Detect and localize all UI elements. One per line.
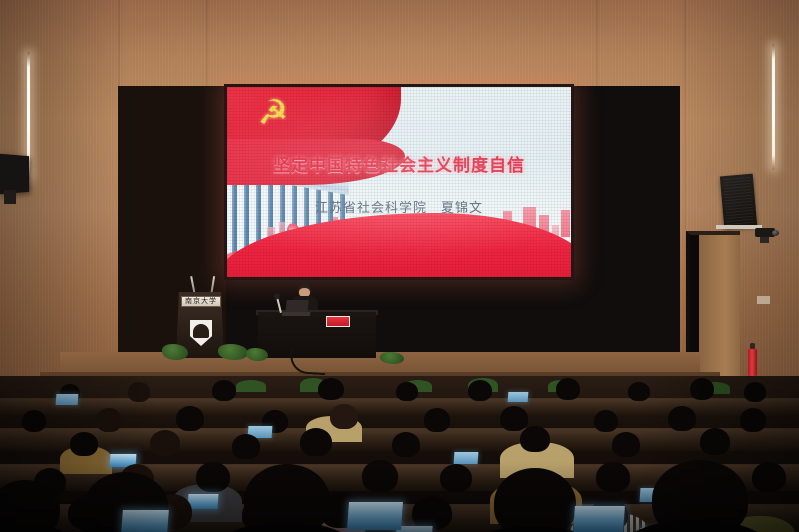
audience-head [744,382,766,402]
presenter-laptop [285,300,308,313]
planter-greenery [236,380,266,392]
audience-head [412,496,452,530]
audience-head [596,462,630,492]
camera-lens-icon [772,230,779,236]
audience-laptop [187,494,218,509]
audience-laptop [56,394,79,405]
audience-head [740,408,766,432]
hammer-sickle-icon: ☭ [253,95,293,131]
audience-head [628,382,650,401]
audience-head [668,406,696,431]
audience-head [300,428,332,456]
stage-backdrop-right [572,86,680,358]
audience-head [392,432,420,457]
audience-head [330,404,358,429]
audience-head [362,460,398,492]
stage-plant [380,352,404,364]
presenter-nameplate [326,316,350,327]
audience-head [196,462,230,492]
audience-head [396,382,418,401]
audience-head [700,428,730,455]
audience-head [468,380,492,401]
audience-head [128,382,150,402]
slide-subtitle: 江苏省社会科学院 夏锦文 [227,197,571,216]
audience-laptop [573,506,625,532]
wall-switch-plate[interactable] [757,296,770,304]
audience-head [70,432,98,456]
audience-head [176,406,204,431]
wall-monitor-left [0,154,29,195]
audience-head [500,406,528,431]
audience-head [318,378,344,400]
wall-monitor-mount-left [4,190,16,204]
audience-head [440,464,472,492]
audience-head [612,432,640,457]
audience-head [520,426,550,452]
audience-laptop [121,510,169,532]
audience-head [556,378,580,400]
audience-head [690,378,714,400]
auditorium-photo: ☭ [0,0,799,532]
light-strip-right [772,44,775,170]
fire-extinguisher [748,348,757,376]
audience-head [212,380,236,401]
audience-head-foreground [494,468,576,532]
stage-plant [218,344,248,360]
presentation-slide: ☭ [227,87,571,277]
stage-plant [162,344,188,360]
audience-laptop [347,502,403,530]
audience-laptop [454,452,479,464]
audience-laptop [508,392,529,402]
audience-head [96,408,122,432]
audience-area [0,376,799,532]
audience-head [150,430,180,456]
audience-head [752,462,786,492]
audience-head [594,410,618,432]
audience-head [22,410,46,432]
ceiling-camera [755,228,779,241]
slide-title: 坚定中国特色社会主义制度自信 [227,151,571,176]
wall-speaker-right [720,174,757,229]
audience-head [424,408,450,432]
podium-nameplate: 南京大学 [181,296,221,307]
stage-plant [246,348,268,361]
audience-head [232,434,260,459]
led-screen-frame: ☭ [224,84,574,280]
